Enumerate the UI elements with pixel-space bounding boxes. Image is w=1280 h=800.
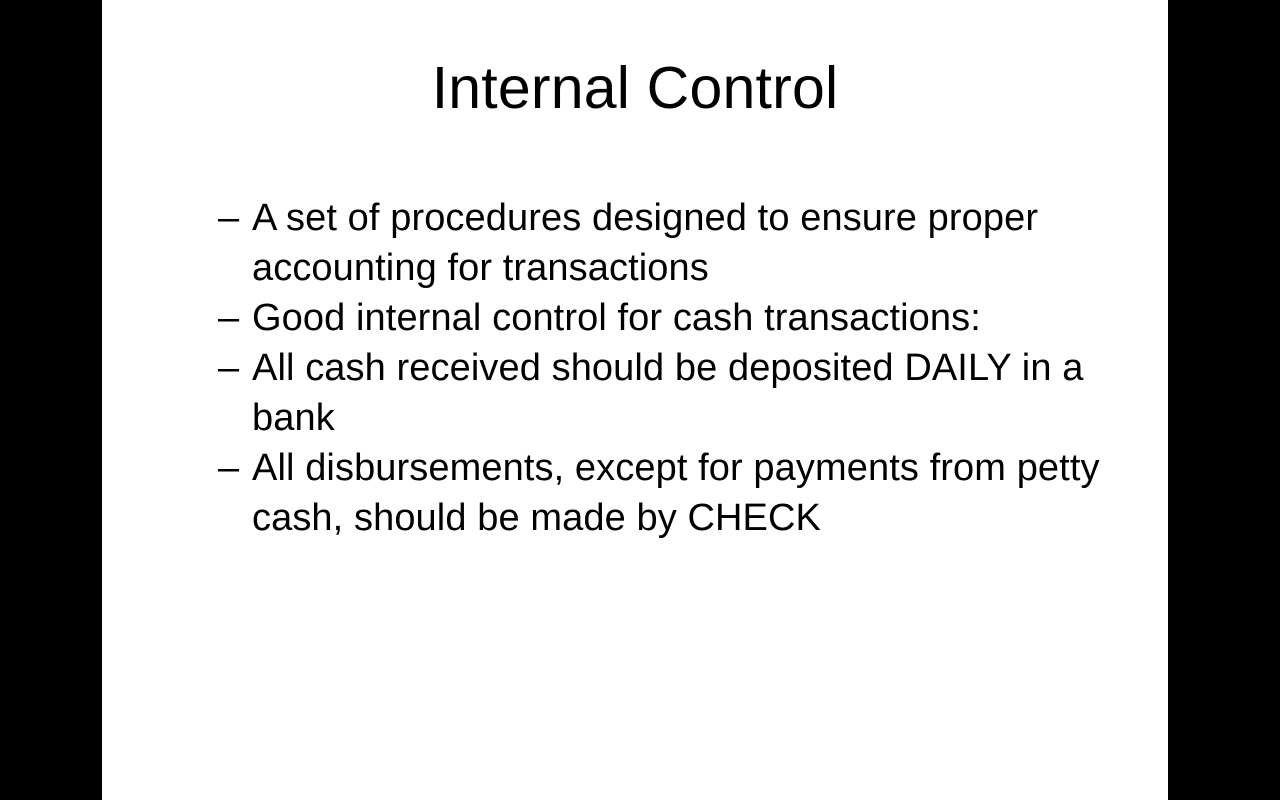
bullet-item-3-text: All cash received should be deposited DA…: [252, 343, 1118, 443]
letterbox-bar-right: [1168, 0, 1280, 800]
dash-bullet-icon: –: [218, 193, 239, 243]
letterbox-bar-left: [0, 0, 102, 800]
bullet-item-4: – All disbursements, except for payments…: [218, 443, 1118, 543]
bullet-item-1-text: A set of procedures designed to ensure p…: [252, 193, 1118, 293]
bullet-item-2: – Good internal control for cash transac…: [218, 293, 1118, 343]
slide-canvas: Internal Control – A set of procedures d…: [102, 0, 1168, 800]
presentation-viewer: Internal Control – A set of procedures d…: [0, 0, 1280, 800]
bullet-item-4-text: All disbursements, except for payments f…: [252, 443, 1118, 543]
dash-bullet-icon: –: [218, 293, 239, 343]
bullet-item-2-text: Good internal control for cash transacti…: [252, 293, 1118, 343]
slide-title: Internal Control: [102, 58, 1168, 120]
dash-bullet-icon: –: [218, 443, 239, 493]
bullet-item-3: – All cash received should be deposited …: [218, 343, 1118, 443]
bullet-item-1: – A set of procedures designed to ensure…: [218, 193, 1118, 293]
bullet-list: – A set of procedures designed to ensure…: [218, 193, 1118, 543]
dash-bullet-icon: –: [218, 343, 239, 393]
